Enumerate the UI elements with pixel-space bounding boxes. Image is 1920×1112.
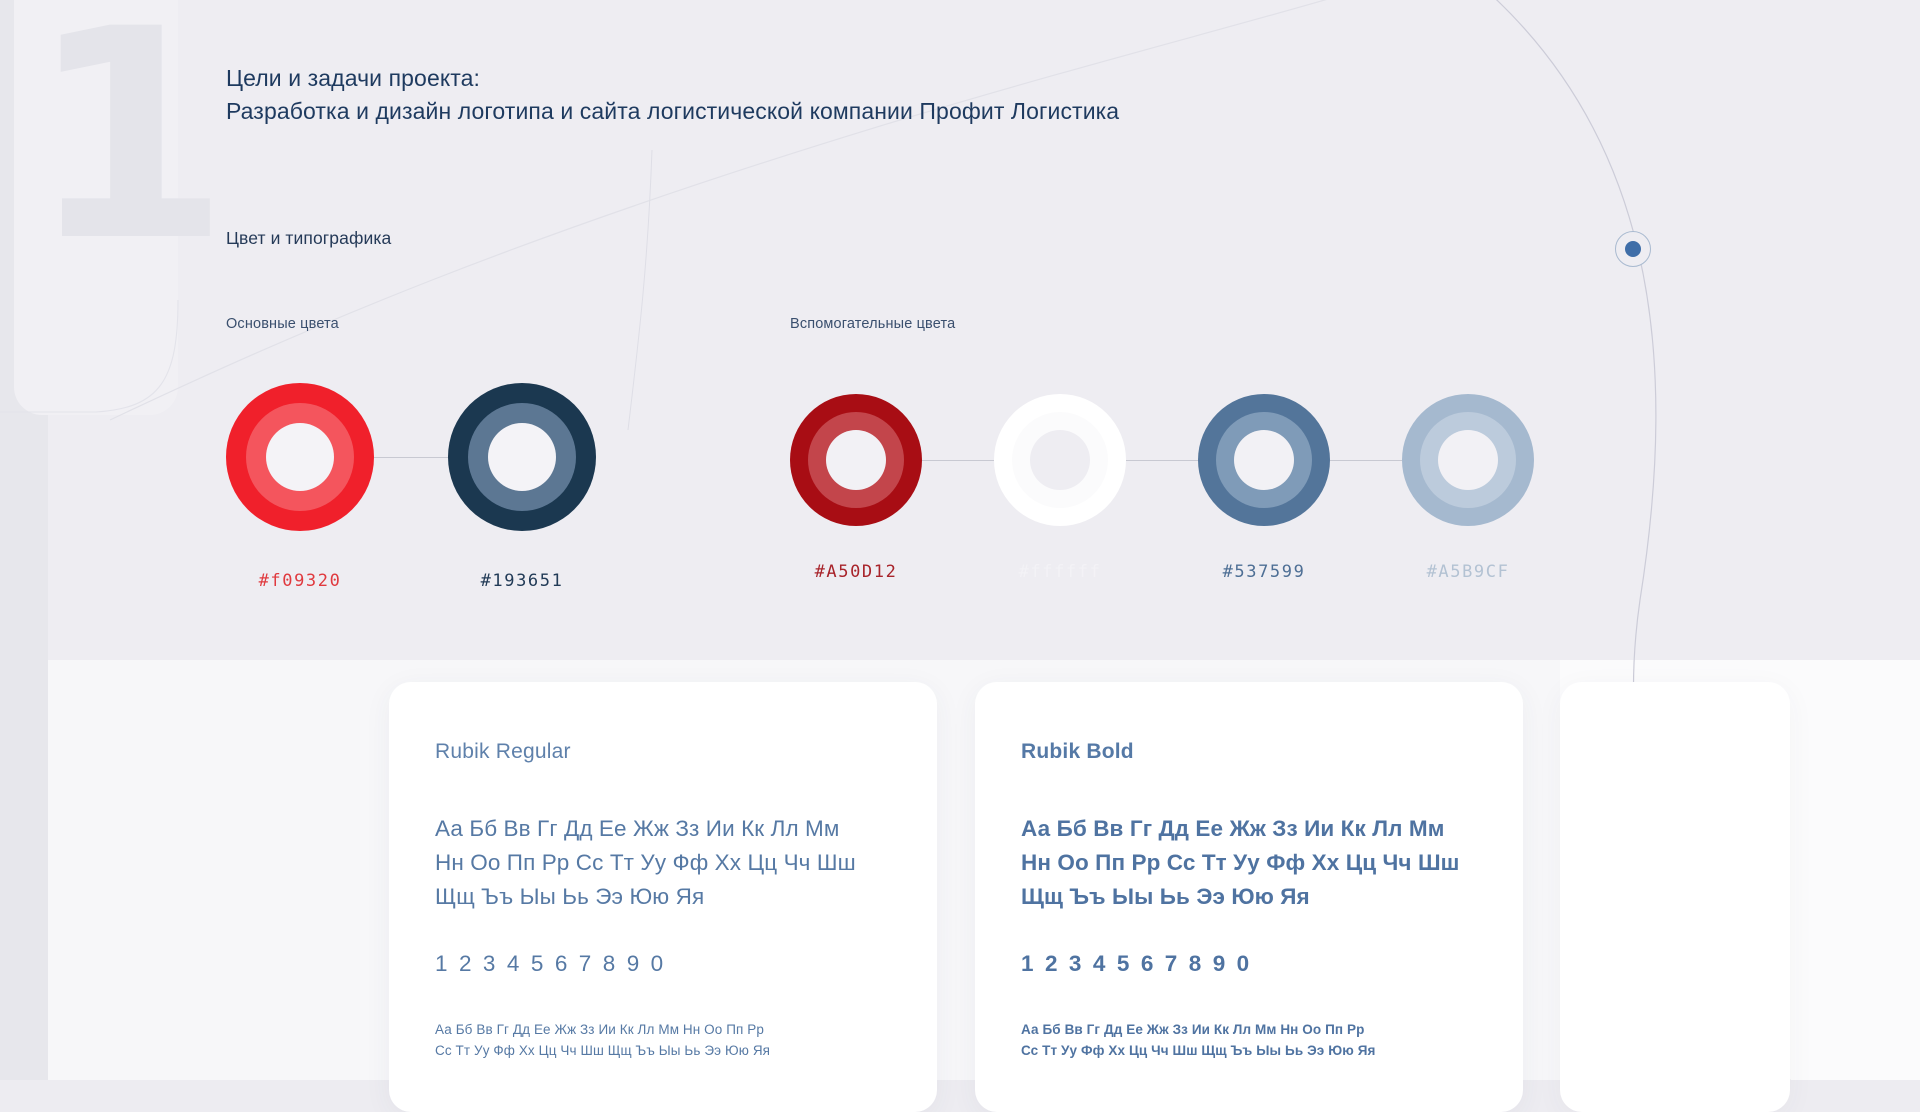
color-ring-inner bbox=[808, 412, 904, 508]
color-ring-hole bbox=[266, 423, 334, 491]
typography-card-regular: Rubik Regular Аа Бб Вв Гг Дд Ее Жж Зз Ии… bbox=[389, 682, 937, 1112]
alphabet-large-line-3: Щщ Ъъ Ыы Ьь Ээ Юю Яя bbox=[435, 880, 891, 914]
color-swatch-secondary-0: #A50D12 bbox=[790, 394, 922, 582]
page-title-line-1: Цели и задачи проекта: bbox=[226, 62, 1119, 95]
swatch-connector bbox=[1330, 460, 1402, 461]
alphabet-large-regular: Аа Бб Вв Гг Дд Ее Жж Зз Ии Кк Лл Мм Нн О… bbox=[435, 812, 891, 915]
color-ring-outer bbox=[994, 394, 1126, 526]
swatch-connector bbox=[374, 457, 448, 458]
color-ring-inner bbox=[1012, 412, 1108, 508]
alphabet-small-line-1: Аа Бб Вв Гг Дд Ее Жж Зз Ии Кк Лл Мм Нн О… bbox=[1021, 1019, 1477, 1041]
alphabet-large-line-2: Нн Оо Пп Рр Сс Тт Уу Фф Хх Цц Чч Шш bbox=[1021, 846, 1477, 880]
color-swatch-secondary-2: #537599 bbox=[1198, 394, 1330, 582]
color-hex-label: #A50D12 bbox=[815, 562, 898, 582]
color-ring-inner bbox=[1216, 412, 1312, 508]
alphabet-small-line-2: Сс Тт Уу Фф Хх Цц Чч Шш Щщ Ъъ Ыы Ьь Ээ Ю… bbox=[435, 1040, 891, 1062]
color-hex-label: #193651 bbox=[481, 571, 564, 591]
alphabet-large-bold: Аа Бб Вв Гг Дд Ее Жж Зз Ии Кк Лл Мм Нн О… bbox=[1021, 812, 1477, 915]
color-swatch-primary-1: #193651 bbox=[448, 383, 596, 591]
color-group-label-primary: Основные цвета bbox=[226, 316, 339, 332]
color-ring-hole bbox=[826, 430, 886, 490]
color-ring-outer bbox=[226, 383, 374, 531]
page-title: Цели и задачи проекта: Разработка и диза… bbox=[226, 62, 1119, 127]
typography-card-partial bbox=[1560, 682, 1790, 1112]
color-ring-outer bbox=[1198, 394, 1330, 526]
alphabet-small-line-2: Сс Тт Уу Фф Хх Цц Чч Шш Щщ Ъъ Ыы Ьь Ээ Ю… bbox=[1021, 1040, 1477, 1062]
color-ring-inner bbox=[1420, 412, 1516, 508]
alphabet-large-line-1: Аа Бб Вв Гг Дд Ее Жж Зз Ии Кк Лл Мм bbox=[435, 812, 891, 846]
color-group-label-secondary: Вспомогательные цвета bbox=[790, 316, 955, 332]
alphabet-small-bold: Аа Бб Вв Гг Дд Ее Жж Зз Ии Кк Лл Мм Нн О… bbox=[1021, 1019, 1477, 1063]
color-hex-label: #ffffff bbox=[1019, 562, 1102, 582]
alphabet-large-line-3: Щщ Ъъ Ыы Ьь Ээ Юю Яя bbox=[1021, 880, 1477, 914]
color-hex-label: #f09320 bbox=[259, 571, 342, 591]
color-ring-hole bbox=[1234, 430, 1294, 490]
color-ring-hole bbox=[1438, 430, 1498, 490]
font-name-regular: Rubik Regular bbox=[435, 740, 891, 764]
section-heading: Цвет и типографика bbox=[226, 228, 391, 249]
color-ring-hole bbox=[1030, 430, 1090, 490]
digits-bold: 1 2 3 4 5 6 7 8 9 0 bbox=[1021, 951, 1477, 977]
alphabet-small-regular: Аа Бб Вв Гг Дд Ее Жж Зз Ии Кк Лл Мм Нн О… bbox=[435, 1019, 891, 1063]
swatch-connector bbox=[922, 460, 994, 461]
color-ring-outer bbox=[790, 394, 922, 526]
page-title-line-2: Разработка и дизайн логотипа и сайта лог… bbox=[226, 95, 1119, 128]
color-ring-outer bbox=[448, 383, 596, 531]
color-swatch-secondary-3: #A5B9CF bbox=[1402, 394, 1534, 582]
color-hex-label: #537599 bbox=[1223, 562, 1306, 582]
alphabet-small-line-1: Аа Бб Вв Гг Дд Ее Жж Зз Ии Кк Лл Мм Нн О… bbox=[435, 1019, 891, 1041]
color-swatch-row-primary: #f09320#193651 bbox=[226, 383, 596, 591]
swatch-connector bbox=[1126, 460, 1198, 461]
alphabet-large-line-1: Аа Бб Вв Гг Дд Ее Жж Зз Ии Кк Лл Мм bbox=[1021, 812, 1477, 846]
color-ring-outer bbox=[1402, 394, 1534, 526]
color-ring-inner bbox=[468, 403, 576, 511]
digits-regular: 1 2 3 4 5 6 7 8 9 0 bbox=[435, 951, 891, 977]
typography-card-bold: Rubik Bold Аа Бб Вв Гг Дд Ее Жж Зз Ии Кк… bbox=[975, 682, 1523, 1112]
color-hex-label: #A5B9CF bbox=[1427, 562, 1510, 582]
color-swatch-primary-0: #f09320 bbox=[226, 383, 374, 591]
color-ring-hole bbox=[488, 423, 556, 491]
slide-canvas: 1 Цели и задачи проекта: Разработка и ди… bbox=[0, 0, 1920, 1080]
alphabet-large-line-2: Нн Оо Пп Рр Сс Тт Уу Фф Хх Цц Чч Шш bbox=[435, 846, 891, 880]
color-ring-inner bbox=[246, 403, 354, 511]
color-swatch-row-secondary: #A50D12#ffffff#537599#A5B9CF bbox=[790, 394, 1534, 582]
color-swatch-secondary-1: #ffffff bbox=[994, 394, 1126, 582]
font-name-bold: Rubik Bold bbox=[1021, 740, 1477, 764]
